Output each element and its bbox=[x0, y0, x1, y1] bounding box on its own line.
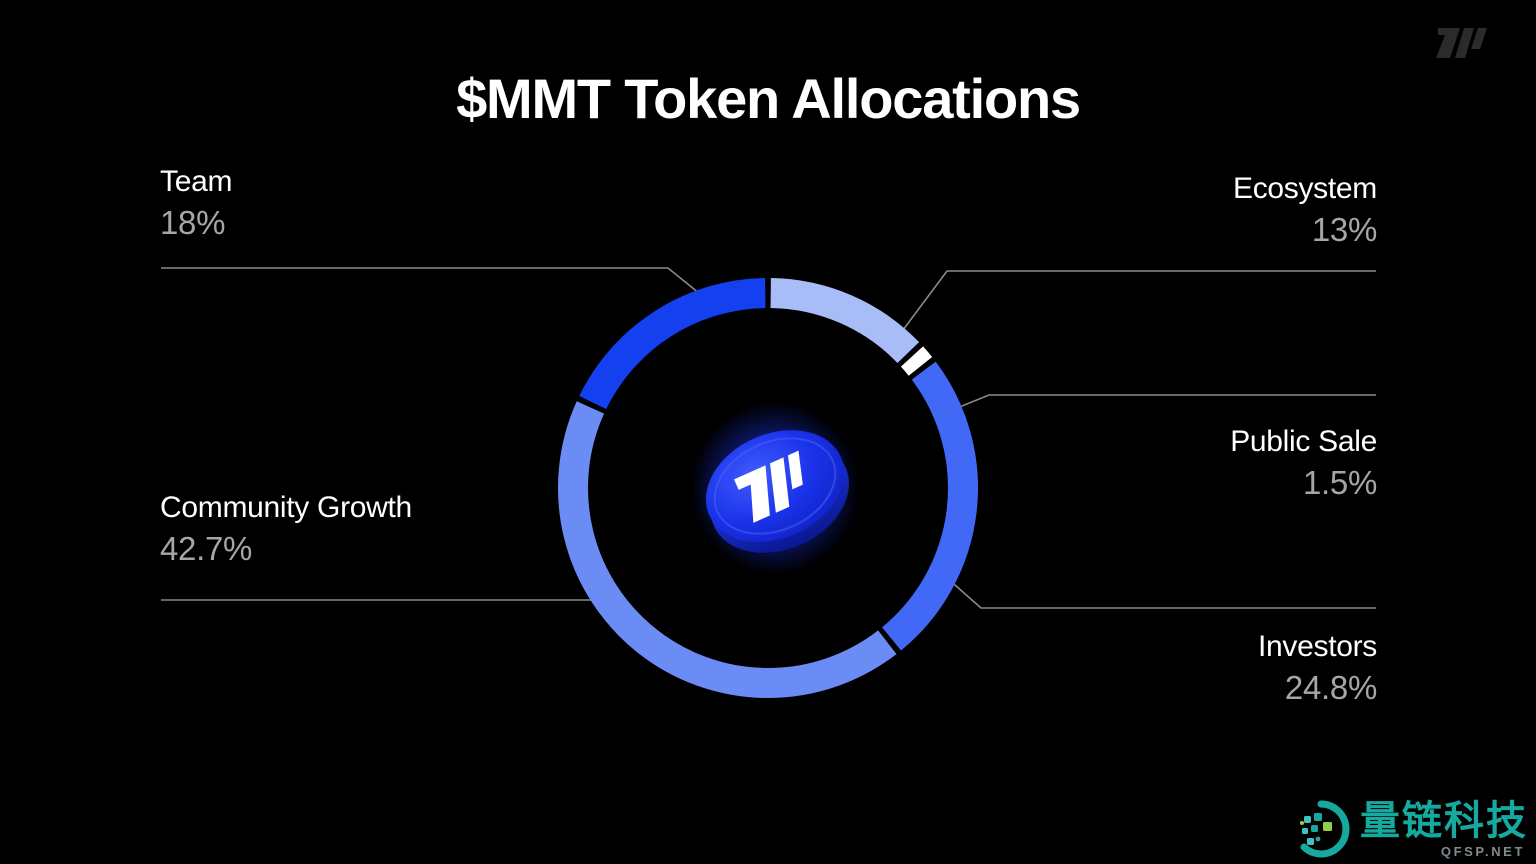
callout-public-sale-value: 1.5% bbox=[1230, 461, 1377, 505]
leader-line-investors bbox=[947, 578, 1376, 608]
callout-community-growth-value: 42.7% bbox=[160, 527, 412, 571]
donut-slice-team bbox=[593, 293, 766, 402]
callout-investors: Investors 24.8% bbox=[1258, 628, 1377, 710]
leader-line-public-sale bbox=[952, 395, 1376, 410]
callout-team-label: Team bbox=[160, 163, 232, 201]
callout-ecosystem-label: Ecosystem bbox=[1233, 170, 1377, 208]
mmt-coin-graphic bbox=[690, 398, 860, 574]
callout-team: Team 18% bbox=[160, 163, 232, 245]
callout-ecosystem: Ecosystem 13% bbox=[1233, 170, 1377, 252]
callout-public-sale-label: Public Sale bbox=[1230, 423, 1377, 461]
site-watermark: 量链科技 QFSP.NET bbox=[1292, 800, 1528, 858]
watermark-logo-icon bbox=[1292, 800, 1350, 858]
leader-line-community-growth bbox=[161, 598, 600, 600]
callout-investors-value: 24.8% bbox=[1258, 666, 1377, 710]
callout-community-growth-label: Community Growth bbox=[160, 489, 412, 527]
donut-slice-ecosystem bbox=[771, 293, 909, 353]
watermark-url-text: QFSP.NET bbox=[1441, 845, 1525, 858]
donut-slice-public-sale bbox=[912, 357, 920, 367]
slide-canvas: $MMT Token Allocations bbox=[0, 0, 1536, 864]
donut-slice-investors bbox=[892, 371, 963, 639]
callout-investors-label: Investors bbox=[1258, 628, 1377, 666]
watermark-cn-text: 量链科技 bbox=[1360, 801, 1528, 841]
callout-ecosystem-value: 13% bbox=[1233, 208, 1377, 252]
callout-public-sale: Public Sale 1.5% bbox=[1230, 423, 1377, 505]
callout-team-value: 18% bbox=[160, 201, 232, 245]
watermark-text: 量链科技 QFSP.NET bbox=[1360, 801, 1528, 858]
callout-community-growth: Community Growth 42.7% bbox=[160, 489, 412, 571]
